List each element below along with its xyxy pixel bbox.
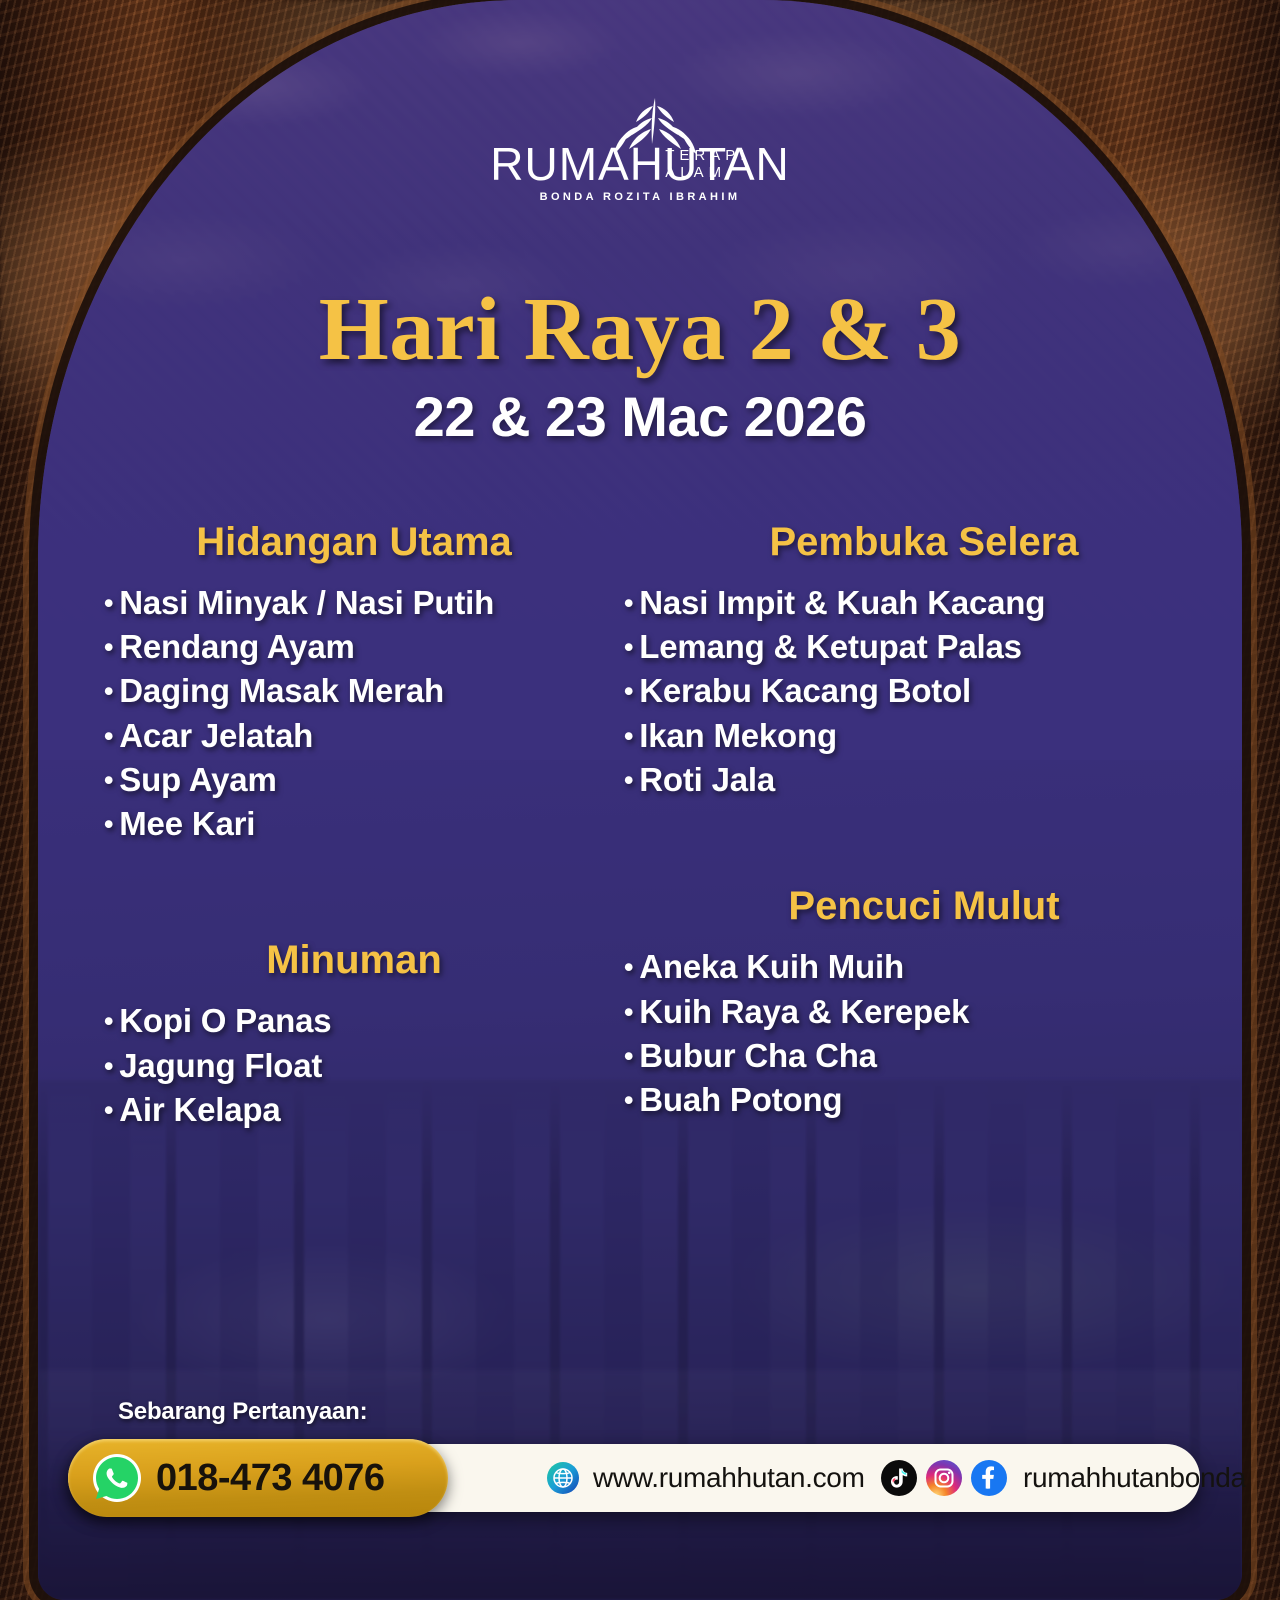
- list-item: Buah Potong: [624, 1078, 1224, 1122]
- logo-wordmark: RUMA H UTAN TERAPI ALAM: [490, 143, 790, 187]
- list-item: Mee Kari: [104, 802, 604, 846]
- section-list: Nasi Minyak / Nasi Putih Rendang Ayam Da…: [104, 581, 604, 846]
- whatsapp-icon: [92, 1453, 142, 1503]
- logo-tagline-top: TERAPI ALAM: [665, 147, 790, 181]
- menu-section-hidangan-utama: Hidangan Utama Nasi Minyak / Nasi Putih …: [44, 520, 604, 846]
- section-title: Pembuka Selera: [624, 520, 1224, 565]
- list-item: Kopi O Panas: [104, 999, 604, 1043]
- content-layer: RUMA H UTAN TERAPI ALAM BONDA ROZITA IBR…: [0, 0, 1280, 1600]
- list-item: Ikan Mekong: [624, 714, 1224, 758]
- list-item: Kerabu Kacang Botol: [624, 669, 1224, 713]
- logo-word-ruma: RUMA: [490, 143, 629, 187]
- list-item: Sup Ayam: [104, 758, 604, 802]
- list-item: Kuih Raya & Kerepek: [624, 990, 1224, 1034]
- section-title: Minuman: [104, 938, 604, 983]
- menu-section-pencuci-mulut: Pencuci Mulut Aneka Kuih Muih Kuih Raya …: [604, 846, 1224, 1132]
- logo-subtitle: BONDA ROZITA IBRAHIM: [540, 191, 741, 203]
- section-title: Hidangan Utama: [104, 520, 604, 565]
- list-item: Bubur Cha Cha: [624, 1034, 1224, 1078]
- section-list: Aneka Kuih Muih Kuih Raya & Kerepek Bubu…: [624, 945, 1224, 1122]
- page-title: Hari Raya 2 & 3: [0, 284, 1280, 376]
- whatsapp-number: 018-473 4076: [156, 1457, 385, 1500]
- website-text: www.rumahhutan.com: [593, 1462, 865, 1494]
- list-item: Lemang & Ketupat Palas: [624, 625, 1224, 669]
- headline-block: Hari Raya 2 & 3 22 & 23 Mac 2026: [0, 284, 1280, 449]
- list-item: Acar Jelatah: [104, 714, 604, 758]
- list-item: Nasi Impit & Kuah Kacang: [624, 581, 1224, 625]
- list-item: Air Kelapa: [104, 1088, 604, 1132]
- whatsapp-button[interactable]: 018-473 4076: [68, 1439, 448, 1517]
- menu-grid: Hidangan Utama Nasi Minyak / Nasi Putih …: [0, 520, 1280, 1132]
- list-item: Daging Masak Merah: [104, 669, 604, 713]
- list-item: Jagung Float: [104, 1044, 604, 1088]
- event-date: 22 & 23 Mac 2026: [0, 384, 1280, 449]
- website-link[interactable]: www.rumahhutan.com: [546, 1444, 865, 1512]
- section-title: Pencuci Mulut: [624, 884, 1224, 929]
- brand-logo: RUMA H UTAN TERAPI ALAM BONDA ROZITA IBR…: [0, 96, 1280, 203]
- list-item: Rendang Ayam: [104, 625, 604, 669]
- menu-section-pembuka-selera: Pembuka Selera Nasi Impit & Kuah Kacang …: [604, 520, 1224, 846]
- social-handle: rumahhutanbonda: [1023, 1462, 1246, 1494]
- list-item: Aneka Kuih Muih: [624, 945, 1224, 989]
- menu-section-minuman: Minuman Kopi O Panas Jagung Float Air Ke…: [44, 846, 604, 1132]
- layout-spacer: [104, 846, 604, 938]
- globe-icon: [546, 1461, 580, 1495]
- facebook-icon[interactable]: [970, 1459, 1008, 1497]
- social-links[interactable]: rumahhutanbonda: [880, 1444, 1246, 1512]
- enquiry-label: Sebarang Pertanyaan:: [118, 1398, 367, 1426]
- contact-bar: 018-473 4076: [68, 1444, 1200, 1512]
- instagram-icon[interactable]: [925, 1459, 963, 1497]
- poster-root: RUMA H UTAN TERAPI ALAM BONDA ROZITA IBR…: [0, 0, 1280, 1600]
- logo-word-h: H: [630, 143, 664, 187]
- list-item: Roti Jala: [624, 758, 1224, 802]
- list-item: Nasi Minyak / Nasi Putih: [104, 581, 604, 625]
- section-list: Kopi O Panas Jagung Float Air Kelapa: [104, 999, 604, 1132]
- tiktok-icon[interactable]: [880, 1459, 918, 1497]
- section-list: Nasi Impit & Kuah Kacang Lemang & Ketupa…: [624, 581, 1224, 802]
